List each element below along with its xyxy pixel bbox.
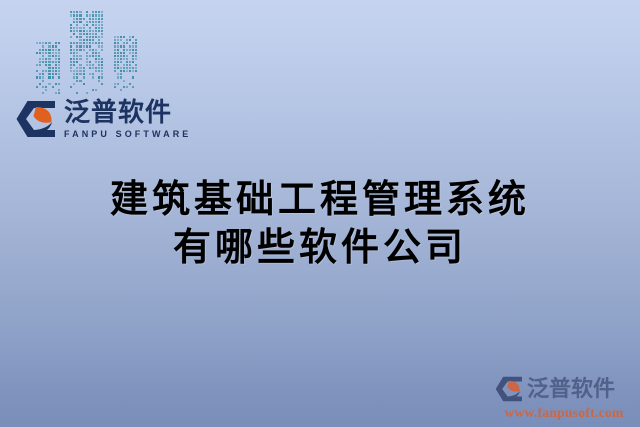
brand-text: 泛普软件 FANPU SOFTWARE [64,99,191,138]
brand-name-en: FANPU SOFTWARE [64,130,191,139]
watermark-url: www.fanpusoft.com [494,406,634,420]
brand-logo: 泛普软件 FANPU SOFTWARE [14,95,191,143]
page-title-line-1: 建筑基础工程管理系统 [0,176,640,224]
page-title-line-2: 有哪些软件公司 [0,224,640,272]
fanpu-hexagon-logo-icon [14,99,58,139]
page-title: 建筑基础工程管理系统 有哪些软件公司 [0,176,640,272]
watermark: 泛普软件 www.fanpusoft.com [494,375,634,420]
brand-name-cn: 泛普软件 [64,99,191,126]
watermark-name-cn: 泛普软件 [527,378,615,400]
pixel-city-skyline-icon [36,2,128,94]
fanpu-hexagon-logo-icon [494,375,524,403]
watermark-logo: 泛普软件 [494,375,634,403]
poster-canvas: 泛普软件 FANPU SOFTWARE 建筑基础工程管理系统 有哪些软件公司 泛… [0,0,640,427]
